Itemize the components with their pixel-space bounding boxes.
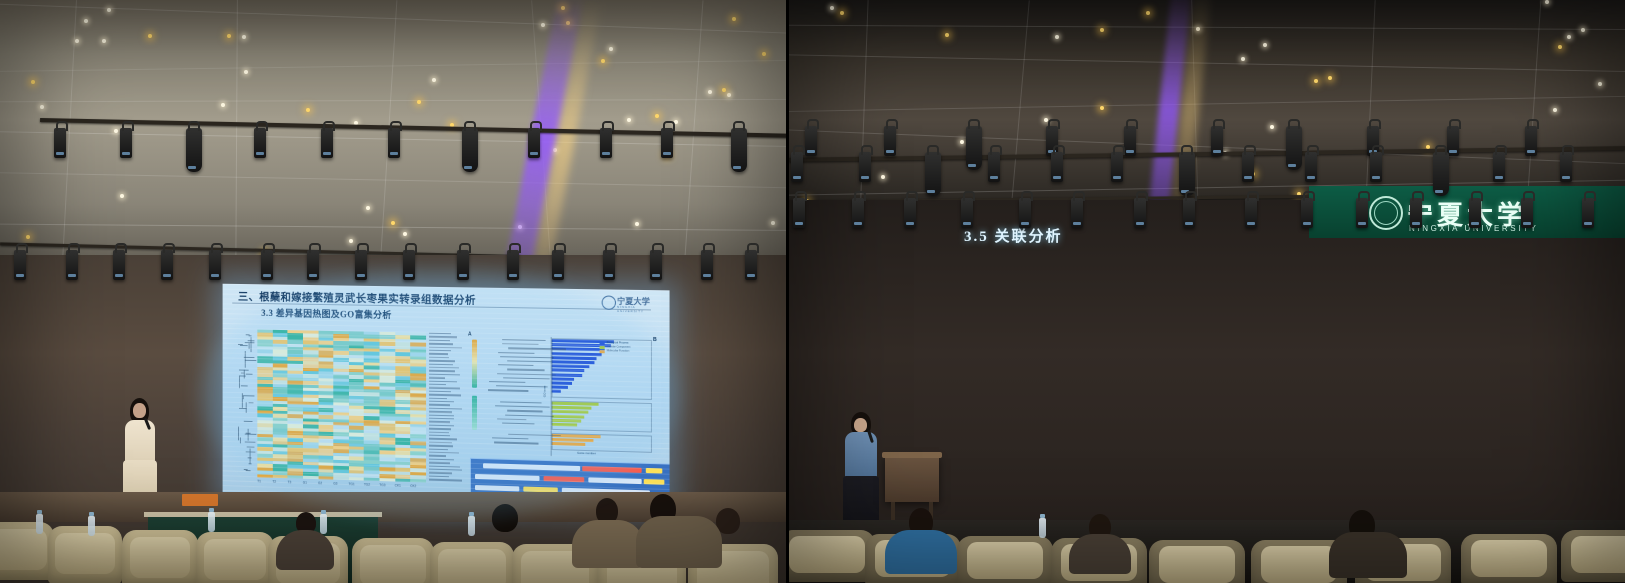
stage-light-fixture [507, 250, 519, 280]
light-lens [1136, 222, 1144, 225]
stage-light-fixture [603, 250, 615, 280]
ceiling-downlight [221, 103, 225, 107]
light-lens [1307, 176, 1315, 179]
stage-light-fixture [859, 152, 871, 182]
speaker-head [133, 403, 146, 418]
ceiling-downlight [1100, 28, 1104, 32]
light-lens [1073, 222, 1081, 225]
bottle-cap [89, 512, 94, 516]
podium [885, 456, 939, 502]
stage-light-fixture [650, 250, 662, 280]
bottle-cap [469, 512, 474, 516]
ceiling-downlight [655, 114, 659, 118]
light-lens [906, 222, 914, 225]
water-bottle [208, 512, 215, 532]
light-lens [211, 274, 219, 277]
gene-label [429, 374, 460, 376]
stage-light-fixture [1356, 198, 1368, 228]
gene-label [429, 384, 446, 386]
ceiling-downlight [227, 34, 231, 38]
light-lens [1471, 222, 1479, 225]
stage-light-fixture [1134, 198, 1146, 228]
dendrogram-branch [246, 374, 252, 375]
ceiling-downlight [120, 194, 124, 198]
ceiling-seam [0, 224, 786, 232]
audience-chair [48, 526, 122, 583]
stage-light-fixture [1560, 152, 1572, 182]
ceiling-downlight [114, 129, 118, 133]
ceiling-downlight [403, 232, 407, 236]
audience-shoulders [1069, 534, 1131, 574]
stage-light-fixture [120, 128, 132, 158]
ceiling-seam [789, 54, 1625, 73]
stage-light-fixture [1286, 126, 1302, 170]
light-lens [263, 274, 271, 277]
bottle-cap [37, 510, 42, 514]
light-lens [1527, 150, 1535, 153]
ceiling-downlight [708, 90, 712, 94]
stage-light-fixture [600, 128, 612, 158]
stage-light-fixture [793, 198, 805, 228]
stage-light-fixture [1111, 152, 1123, 182]
light-lens [854, 222, 862, 225]
light-lens [1113, 176, 1121, 179]
ceiling-downlight [102, 39, 106, 43]
ceiling-downlight [244, 70, 248, 74]
stage-light-fixture [1582, 198, 1594, 228]
stage-light-fixture [552, 250, 564, 280]
dendrogram-branch [250, 337, 251, 352]
ceiling-downlight [1598, 82, 1602, 86]
stage-light-fixture [1521, 198, 1533, 228]
light-lens [1213, 150, 1221, 153]
light-lens [602, 152, 610, 155]
light-lens [554, 274, 562, 277]
stage-light-fixture [388, 128, 400, 158]
gene-label [429, 353, 448, 355]
light-lens [256, 152, 264, 155]
ceiling-downlight [960, 140, 964, 144]
stage-light-fixture [1493, 152, 1505, 182]
ceiling-downlight [391, 221, 395, 225]
light-lens [1126, 150, 1134, 153]
stage-light-fixture [161, 250, 173, 280]
go-legend: Biological ProcessCellular ComponentMole… [600, 342, 645, 355]
stage-light-fixture [462, 128, 478, 172]
light-lens [861, 176, 869, 179]
audience-chair [352, 538, 434, 583]
ceiling-downlight [1581, 28, 1585, 32]
dendrogram-branch [238, 427, 239, 441]
stage-light-fixture [745, 250, 757, 280]
light-lens [1562, 176, 1570, 179]
go-term-label [496, 385, 547, 387]
ceiling-downlight [1241, 57, 1245, 61]
stage-light-fixture [1469, 198, 1481, 228]
stage-light-fixture [1410, 198, 1422, 228]
go-term-label [507, 360, 551, 362]
light-lens [390, 152, 398, 155]
light-lens [1412, 222, 1420, 225]
audience-chair [0, 522, 54, 580]
stage-light-fixture [1242, 152, 1254, 182]
light-lens [530, 152, 538, 155]
light-lens [1053, 176, 1061, 179]
ceiling-downlight [432, 78, 436, 82]
light-lens [509, 274, 517, 277]
ceiling-seam [0, 99, 786, 102]
stage-light-fixture [925, 152, 941, 196]
stage-light-fixture [1305, 152, 1317, 182]
dendrogram-branch [248, 335, 251, 336]
ceiling-downlight [541, 23, 545, 27]
audience-shoulders [276, 530, 334, 570]
bottle-cap [1040, 514, 1045, 518]
dendrogram-branch [241, 385, 247, 386]
ceiling-downlight [26, 235, 30, 239]
audience-row-left [0, 486, 786, 583]
light-lens [605, 274, 613, 277]
ceiling-downlight [627, 118, 631, 122]
stage-light-fixture [113, 250, 125, 280]
ceiling-downlight [1567, 35, 1571, 39]
water-bottle [468, 516, 475, 536]
water-bottle [36, 514, 43, 534]
light-lens [968, 164, 976, 167]
ceiling-downlight [417, 100, 421, 104]
stage-light-fixture [1179, 152, 1195, 196]
light-lens [1435, 190, 1443, 193]
dendrogram-branch [244, 469, 247, 470]
ceiling-downlight [1314, 79, 1318, 83]
audience-row-right [789, 500, 1625, 583]
light-lens [163, 274, 171, 277]
speaker-torso [125, 420, 155, 464]
light-lens [795, 222, 803, 225]
stage-light-fixture [254, 128, 266, 158]
ceiling-downlight [148, 34, 152, 38]
stage-light-fixture [904, 198, 916, 228]
light-lens [115, 274, 123, 277]
stage-light-fixture [1051, 152, 1063, 182]
dendrogram-branch [245, 434, 256, 435]
go-legend-swatch [600, 346, 605, 349]
audience-shoulders [885, 530, 957, 574]
light-lens [1495, 176, 1503, 179]
stage-light-fixture [14, 250, 26, 280]
stage-light-fixture [988, 152, 1000, 182]
light-lens [323, 152, 331, 155]
ceiling-downlight [881, 175, 885, 179]
light-lens [733, 166, 741, 169]
stage-light-fixture [261, 250, 273, 280]
light-lens [963, 222, 971, 225]
ceiling-downlight [840, 11, 844, 15]
gene-label [429, 343, 453, 345]
gene-label [429, 363, 453, 365]
ceiling-downlight [727, 93, 731, 97]
gene-label [429, 394, 461, 396]
bottle-cap [209, 508, 214, 512]
ceiling-downlight [1328, 76, 1332, 80]
stage-light-fixture [355, 250, 367, 280]
ceiling-downlight [1146, 11, 1150, 15]
light-lens [1288, 164, 1296, 167]
light-lens [652, 274, 660, 277]
light-lens [56, 152, 64, 155]
light-lens [807, 150, 815, 153]
stage-light-fixture [661, 128, 673, 158]
stage-light-fixture [1019, 198, 1031, 228]
light-lens [1303, 222, 1311, 225]
light-lens [1358, 222, 1366, 225]
ceiling-downlight [1558, 45, 1562, 49]
ceiling-downlight [1545, 0, 1549, 4]
dendrogram-branch [238, 344, 242, 345]
projection-screen-left: 三、根蘖和嫁接繁殖灵武长枣果实转录组数据分析 3.3 差异基因热图及GO富集分析… [223, 284, 670, 509]
stage-light-fixture [805, 126, 817, 156]
light-lens [405, 274, 413, 277]
dendrogram-branch [248, 463, 251, 464]
banner-university-cn-fallback: 宁夏大学 [1407, 195, 1527, 232]
audience-chair [430, 542, 514, 583]
stage-light-fixture [403, 250, 415, 280]
stage-light-fixture [1433, 152, 1449, 196]
light-lens [1247, 222, 1255, 225]
stage-light-fixture [54, 128, 66, 158]
bottle-cap [321, 510, 326, 514]
stage-light-fixture [1071, 198, 1083, 228]
water-bottle [88, 516, 95, 536]
ceiling-downlight [762, 52, 766, 56]
university-seal-icon [1369, 196, 1403, 230]
light-lens [188, 166, 196, 169]
go-y-axis-label: GO term [542, 386, 546, 398]
stage-light-fixture [852, 198, 864, 228]
ceiling-downlight [945, 33, 949, 37]
audience-chair [1561, 530, 1625, 582]
ceiling-downlight [722, 88, 726, 92]
light-lens [1185, 222, 1193, 225]
stage-light-fixture [961, 198, 973, 228]
light-lens [16, 274, 24, 277]
light-lens [68, 274, 76, 277]
ceiling-downlight [830, 6, 834, 10]
gene-label [429, 438, 456, 440]
speaker-head-right [854, 418, 867, 432]
dendrogram-branch [245, 360, 256, 361]
ceiling-downlight [75, 39, 79, 43]
gene-label [429, 469, 462, 471]
ceiling-seam [0, 172, 786, 190]
light-lens [122, 152, 130, 155]
stage-light-fixture [1447, 126, 1459, 156]
slide-title-right: 3.5 关联分析 [964, 225, 1063, 246]
light-lens [1021, 222, 1029, 225]
stage-light-fixture [1301, 198, 1313, 228]
ceiling-downlight [84, 19, 88, 23]
stage-light-fixture [1211, 126, 1223, 156]
podium-top [882, 452, 942, 458]
light-lens [927, 190, 935, 193]
ceiling-downlight [635, 222, 639, 226]
ceiling-downlight [31, 80, 35, 84]
light-lens [309, 274, 317, 277]
ceiling-downlight [349, 239, 353, 243]
light-lens [357, 274, 365, 277]
audience-chair [196, 532, 274, 583]
stage-light-fixture [1183, 198, 1195, 228]
audience-chair [1149, 540, 1245, 583]
light-lens [747, 274, 755, 277]
ceiling-downlight [1553, 108, 1557, 112]
ceiling-downlight [1055, 35, 1059, 39]
audience-chair [957, 536, 1053, 583]
ceiling-downlight [771, 221, 775, 225]
ceiling-downlight [1263, 43, 1267, 47]
light-lens [886, 150, 894, 153]
stage-light-fixture [186, 128, 202, 172]
ceiling-seam [789, 95, 1625, 113]
stage-light-fixture [1370, 152, 1382, 182]
stage-light-fixture [701, 250, 713, 280]
ceiling-downlight [609, 47, 613, 51]
stage-light-fixture [321, 128, 333, 158]
audience-chair [789, 530, 875, 582]
light-lens [793, 176, 801, 179]
dendrogram-branch [244, 395, 255, 396]
stage-light-fixture [209, 250, 221, 280]
light-lens [1372, 176, 1380, 179]
stage-light-fixture [457, 250, 469, 280]
ceiling-downlight [1270, 125, 1274, 129]
light-lens [459, 274, 467, 277]
ceiling-downlight [732, 17, 736, 21]
stage-light-fixture [884, 126, 896, 156]
light-lens [1449, 150, 1457, 153]
audience-shoulders [1329, 532, 1407, 578]
stage-light-fixture [731, 128, 747, 172]
stage-light-fixture [1124, 126, 1136, 156]
ceiling-downlight [1100, 106, 1104, 110]
stage-light-fixture [791, 152, 803, 182]
light-lens [1523, 222, 1531, 225]
stage-light-fixture [1525, 126, 1537, 156]
audience-shoulders [636, 516, 722, 568]
stage-light-fixture [528, 128, 540, 158]
ceiling-seam [0, 3, 786, 36]
stage-light-fixture [1245, 198, 1257, 228]
water-bottle [1039, 518, 1046, 538]
gene-label [429, 458, 454, 460]
audience-shoulders [572, 520, 644, 568]
audience-chair [1461, 534, 1557, 583]
ceiling-downlight [107, 8, 111, 12]
right-conference-photo: NINGXIA UNIVERSITY 宁夏大学 A 芽孢杆菌属Bacillus尼… [789, 0, 1625, 583]
water-bottle [320, 514, 327, 534]
ceiling-downlight [242, 35, 246, 39]
light-lens [703, 274, 711, 277]
light-lens [1244, 176, 1252, 179]
audience-head [492, 504, 518, 532]
gene-label [429, 448, 448, 450]
audience-chair [122, 530, 198, 583]
dendrogram-branch [242, 394, 243, 408]
ceiling-downlight [366, 206, 370, 210]
left-conference-photo: 三、根蘖和嫁接繁殖灵武长枣果实转录组数据分析 3.3 差异基因热图及GO富集分析… [0, 0, 786, 583]
ceiling-downlight [40, 105, 44, 109]
ceiling-downlight [306, 108, 310, 112]
stage-light-fixture [966, 126, 982, 170]
light-lens [663, 152, 671, 155]
stage-light-fixture [307, 250, 319, 280]
photo-pair-container: 三、根蘖和嫁接繁殖灵武长枣果实转录组数据分析 3.3 差异基因热图及GO富集分析… [0, 0, 1625, 583]
light-lens [990, 176, 998, 179]
stage-light-fixture [66, 250, 78, 280]
gene-label [429, 404, 450, 406]
light-lens [1584, 222, 1592, 225]
light-lens [464, 166, 472, 169]
